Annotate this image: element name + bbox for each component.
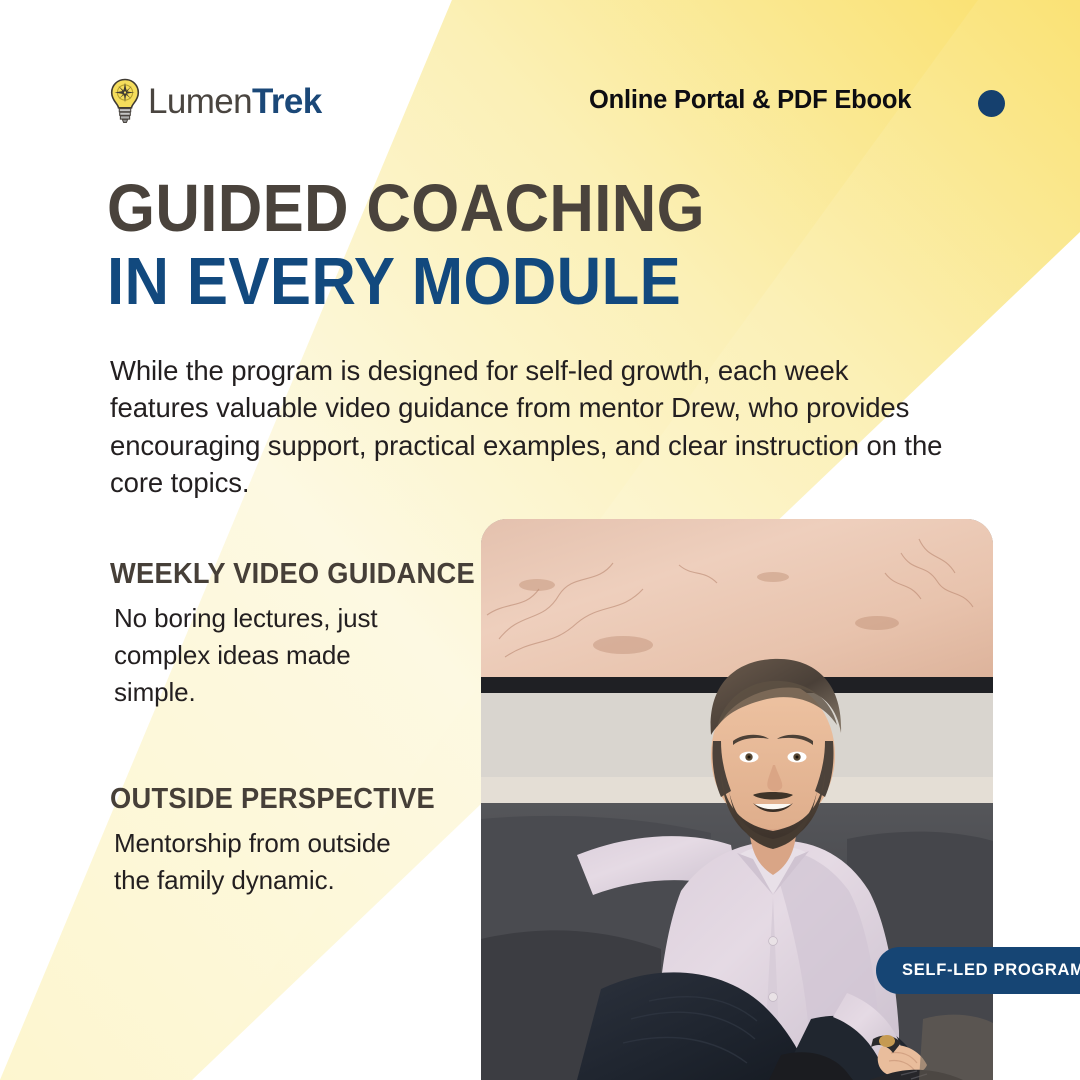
- mentor-photo: [481, 519, 993, 1080]
- brand-logo[interactable]: LumenTrek: [108, 78, 322, 124]
- status-badge: SELF-LED PROGRAM: [876, 947, 1080, 994]
- headline-line-2: IN EVERY MODULE: [107, 251, 705, 313]
- body-paragraph: While the program is designed for self-l…: [110, 352, 945, 502]
- navy-dot-icon: [978, 90, 1005, 117]
- brand-name-part-2: Trek: [252, 84, 322, 119]
- feature-title: OUTSIDE PERSPECTIVE: [110, 783, 435, 816]
- slide-canvas: LumenTrek Online Portal & PDF Ebook GUID…: [0, 0, 1080, 1080]
- headline-line-1: GUIDED COACHING: [107, 178, 705, 240]
- header-tagline: Online Portal & PDF Ebook: [589, 86, 911, 115]
- feature-block-outside-perspective: OUTSIDE PERSPECTIVE Mentorship from outs…: [110, 783, 456, 899]
- page-title: GUIDED COACHING IN EVERY MODULE: [107, 178, 757, 314]
- lightbulb-compass-icon: [108, 78, 142, 124]
- feature-title: WEEKLY VIDEO GUIDANCE: [110, 558, 475, 591]
- brand-name-part-1: Lumen: [148, 84, 252, 119]
- feature-description: Mentorship from outside the family dynam…: [110, 825, 414, 899]
- brand-name: LumenTrek: [148, 84, 322, 119]
- feature-description: No boring lectures, just complex ideas m…: [110, 600, 414, 711]
- feature-block-weekly-video-guidance: WEEKLY VIDEO GUIDANCE No boring lectures…: [110, 558, 498, 711]
